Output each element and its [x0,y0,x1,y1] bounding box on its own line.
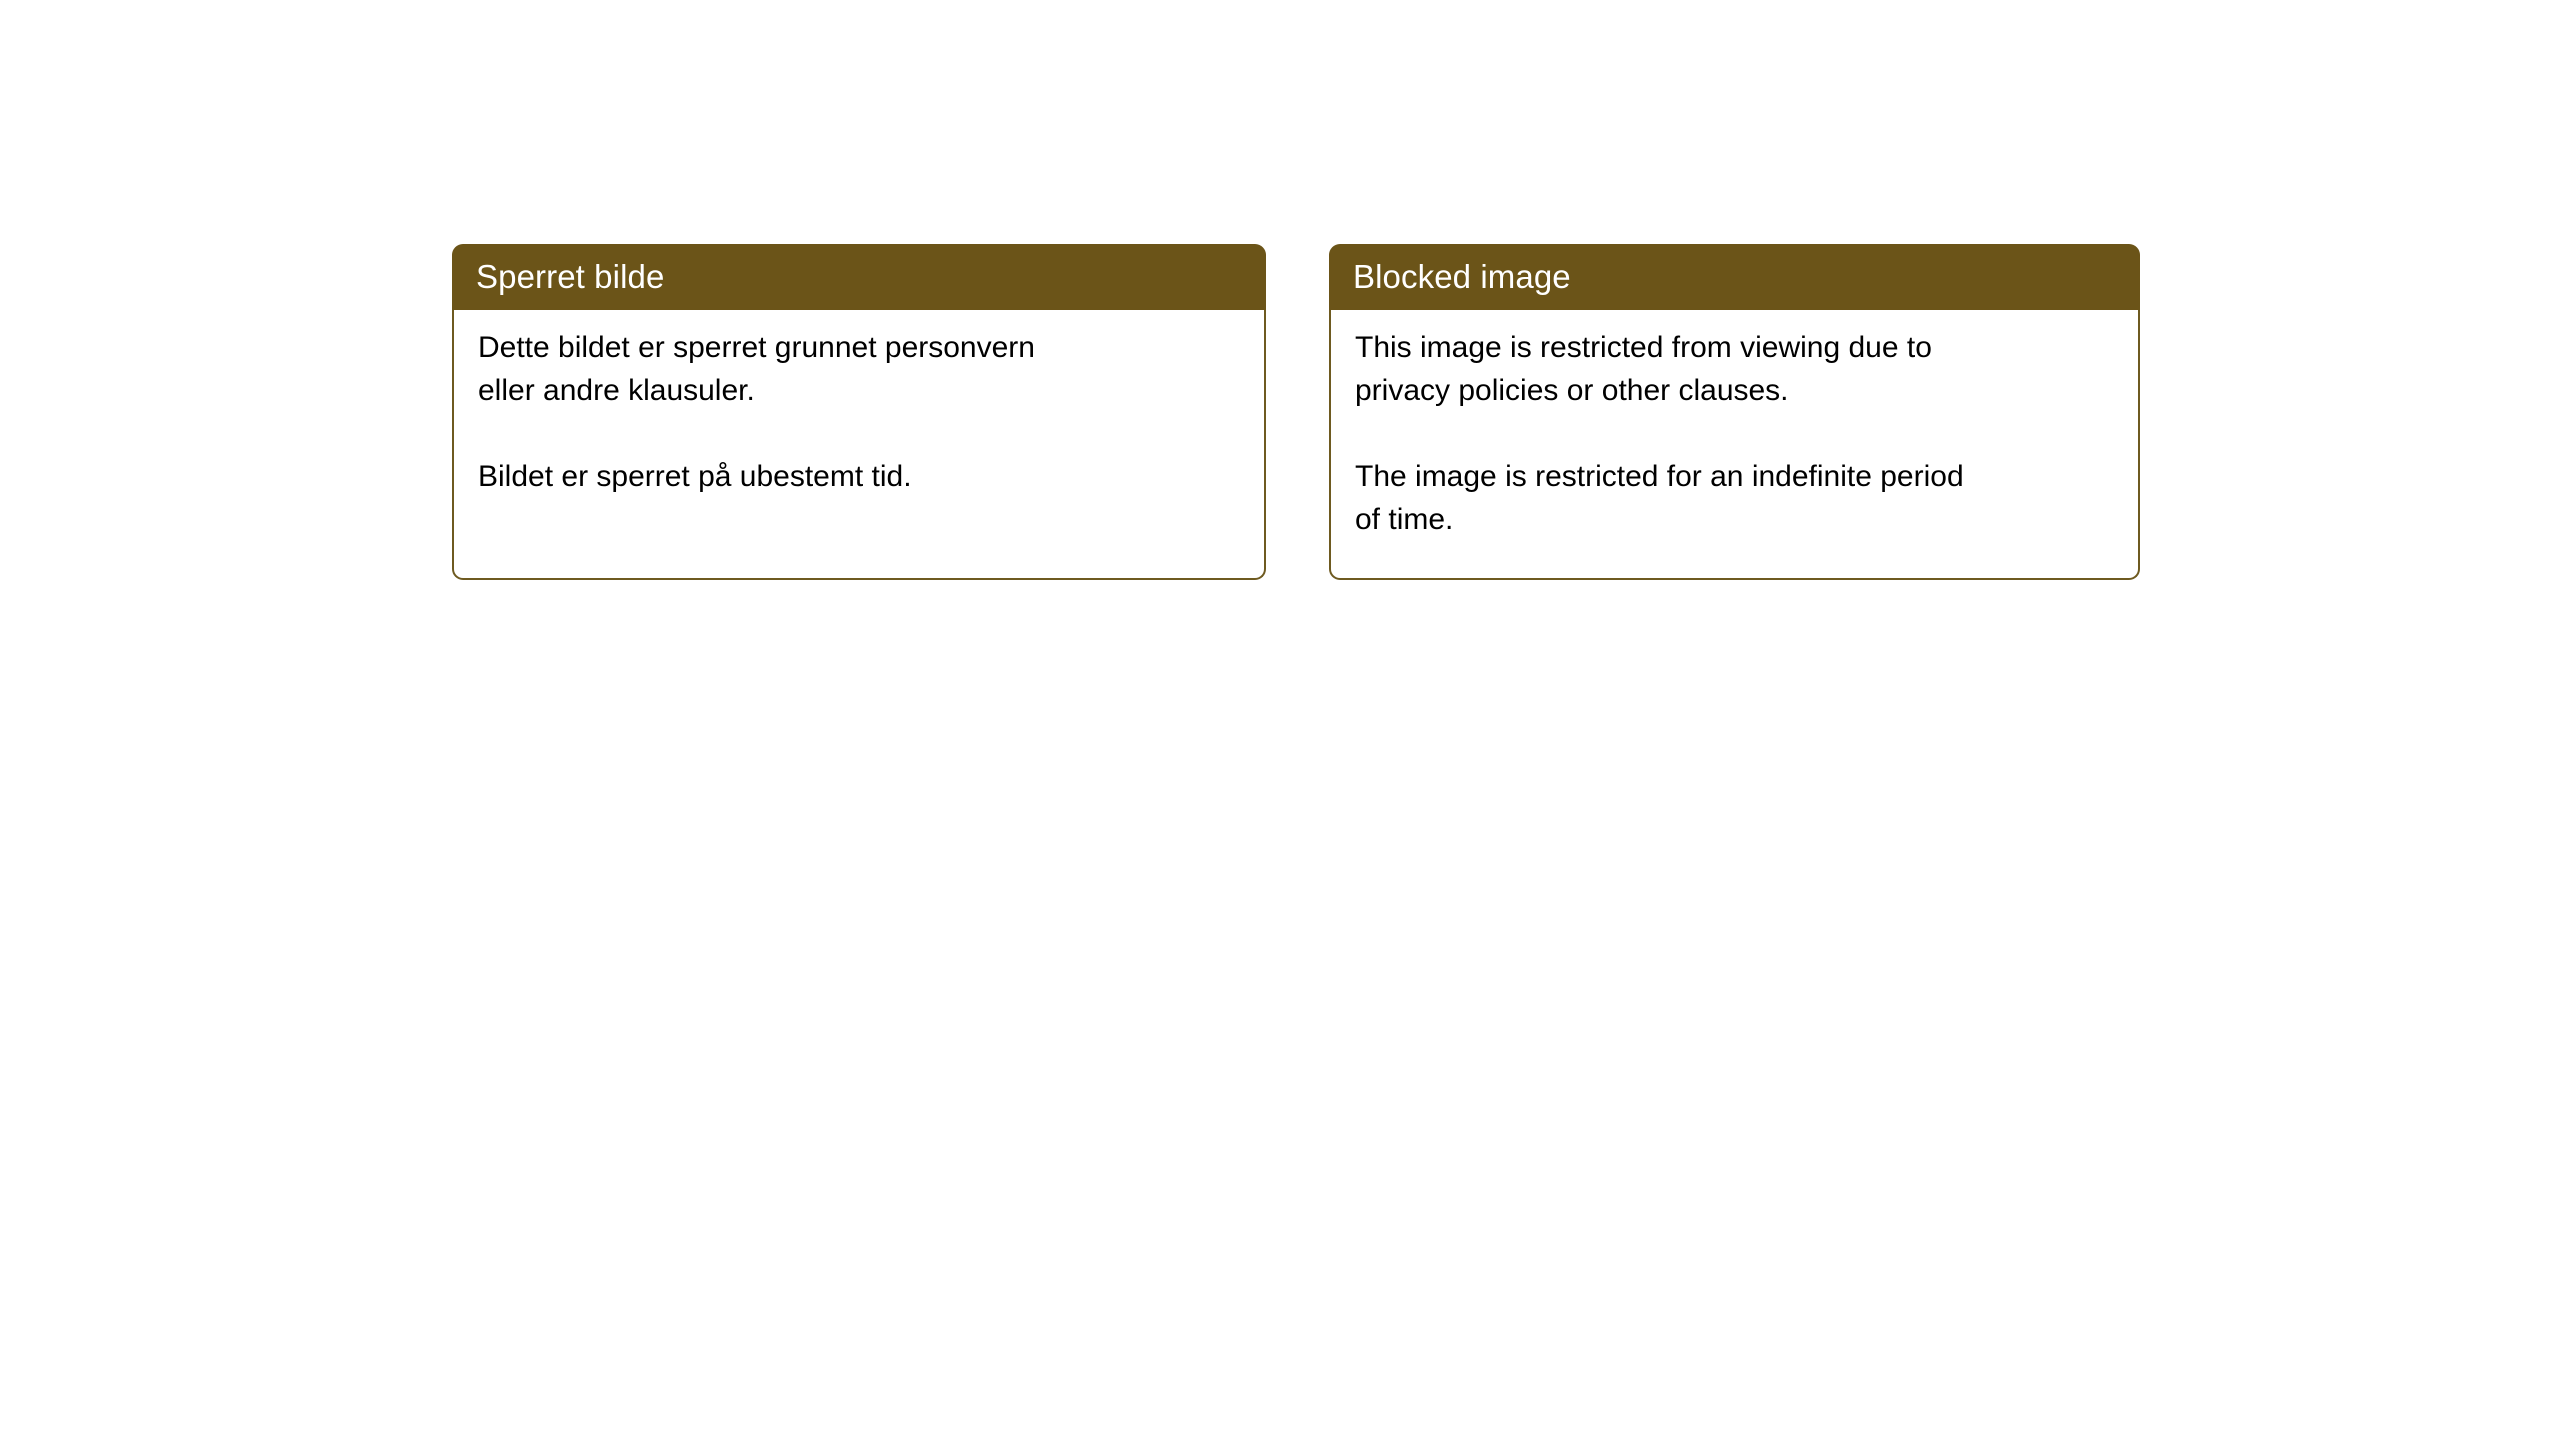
card-header-no: Sperret bilde [452,244,1266,310]
card-body-no: Dette bildet er sperret grunnet personve… [452,310,1266,580]
page-root: Sperret bilde Dette bildet er sperret gr… [0,0,2560,1440]
blocked-image-notice-card-no: Sperret bilde Dette bildet er sperret gr… [452,244,1266,580]
card-title-no: Sperret bilde [476,260,664,294]
card-paragraph-en-1: This image is restricted from viewing du… [1355,326,2118,412]
card-paragraph-no-2: Bildet er sperret på ubestemt tid. [478,455,1244,498]
blocked-image-notice-card-en: Blocked image This image is restricted f… [1329,244,2140,580]
card-paragraph-en-2: The image is restricted for an indefinit… [1355,455,2118,541]
card-title-en: Blocked image [1353,260,1571,294]
card-paragraph-no-1: Dette bildet er sperret grunnet personve… [478,326,1244,412]
card-body-en: This image is restricted from viewing du… [1329,310,2140,580]
card-header-en: Blocked image [1329,244,2140,310]
notice-card-group: Sperret bilde Dette bildet er sperret gr… [452,244,2140,580]
